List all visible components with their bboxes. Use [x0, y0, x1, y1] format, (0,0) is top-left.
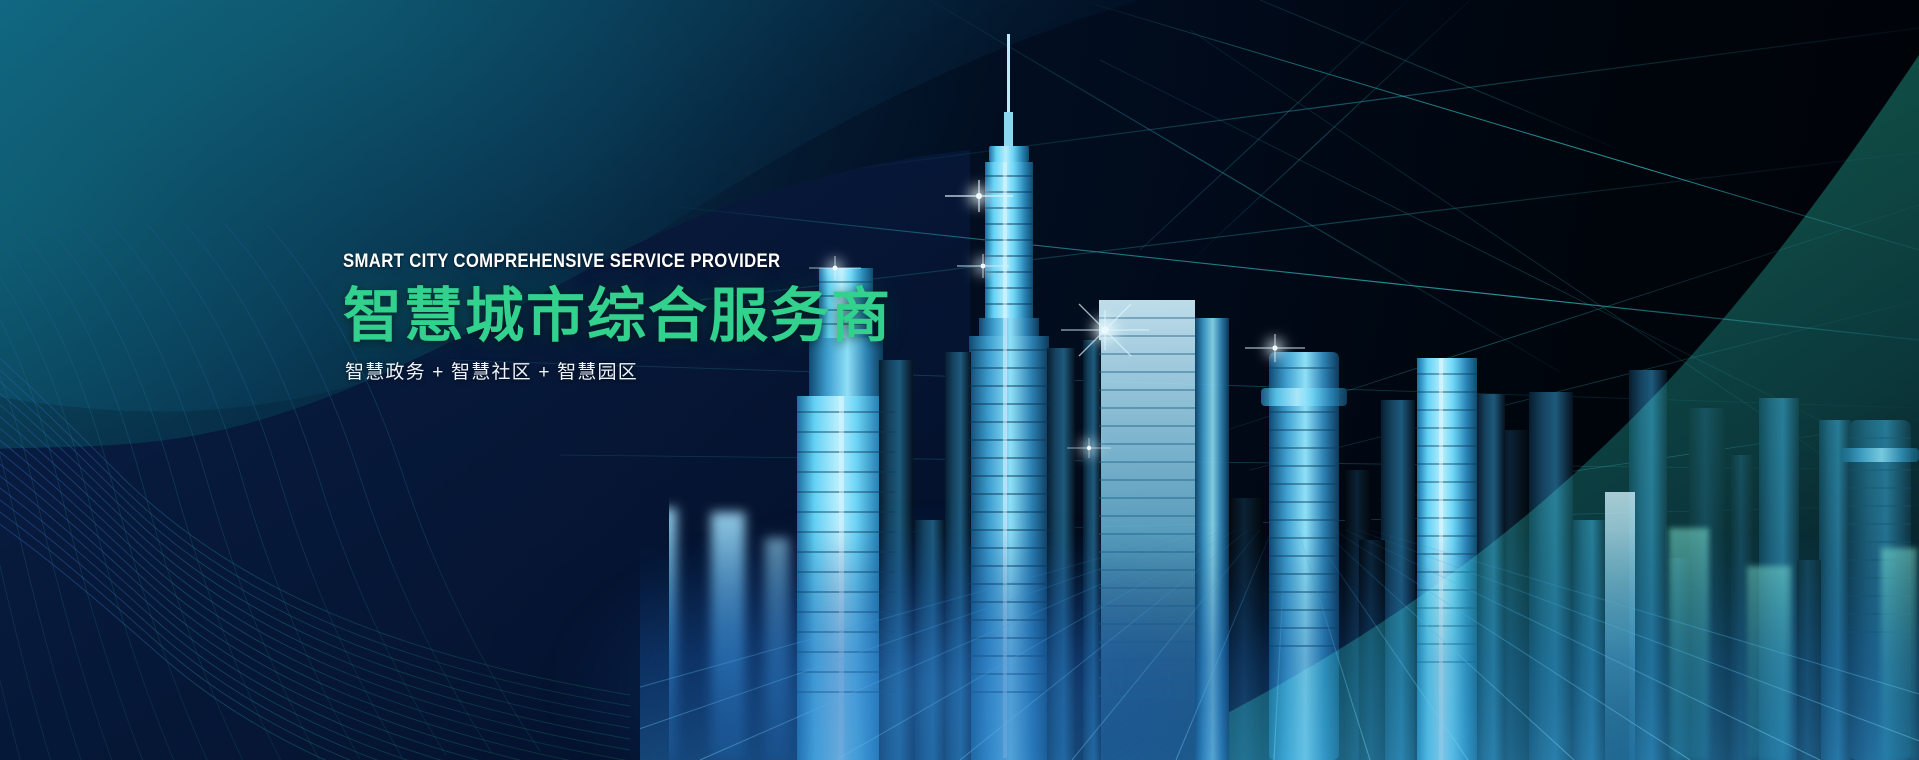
eyebrow-english-tagline: SMART CITY COMPREHENSIVE SERVICE PROVIDE… — [343, 252, 977, 273]
hero-copy-block: SMART CITY COMPREHENSIVE SERVICE PROVIDE… — [343, 252, 1063, 386]
navy-wave-band — [0, 150, 970, 760]
sub-tagline: 智慧政务 + 智慧社区 + 智慧园区 — [345, 361, 1063, 386]
page-title: 智慧城市综合服务商 — [343, 285, 1063, 348]
smart-city-hero-banner: SMART CITY COMPREHENSIVE SERVICE PROVIDE… — [0, 0, 1919, 760]
